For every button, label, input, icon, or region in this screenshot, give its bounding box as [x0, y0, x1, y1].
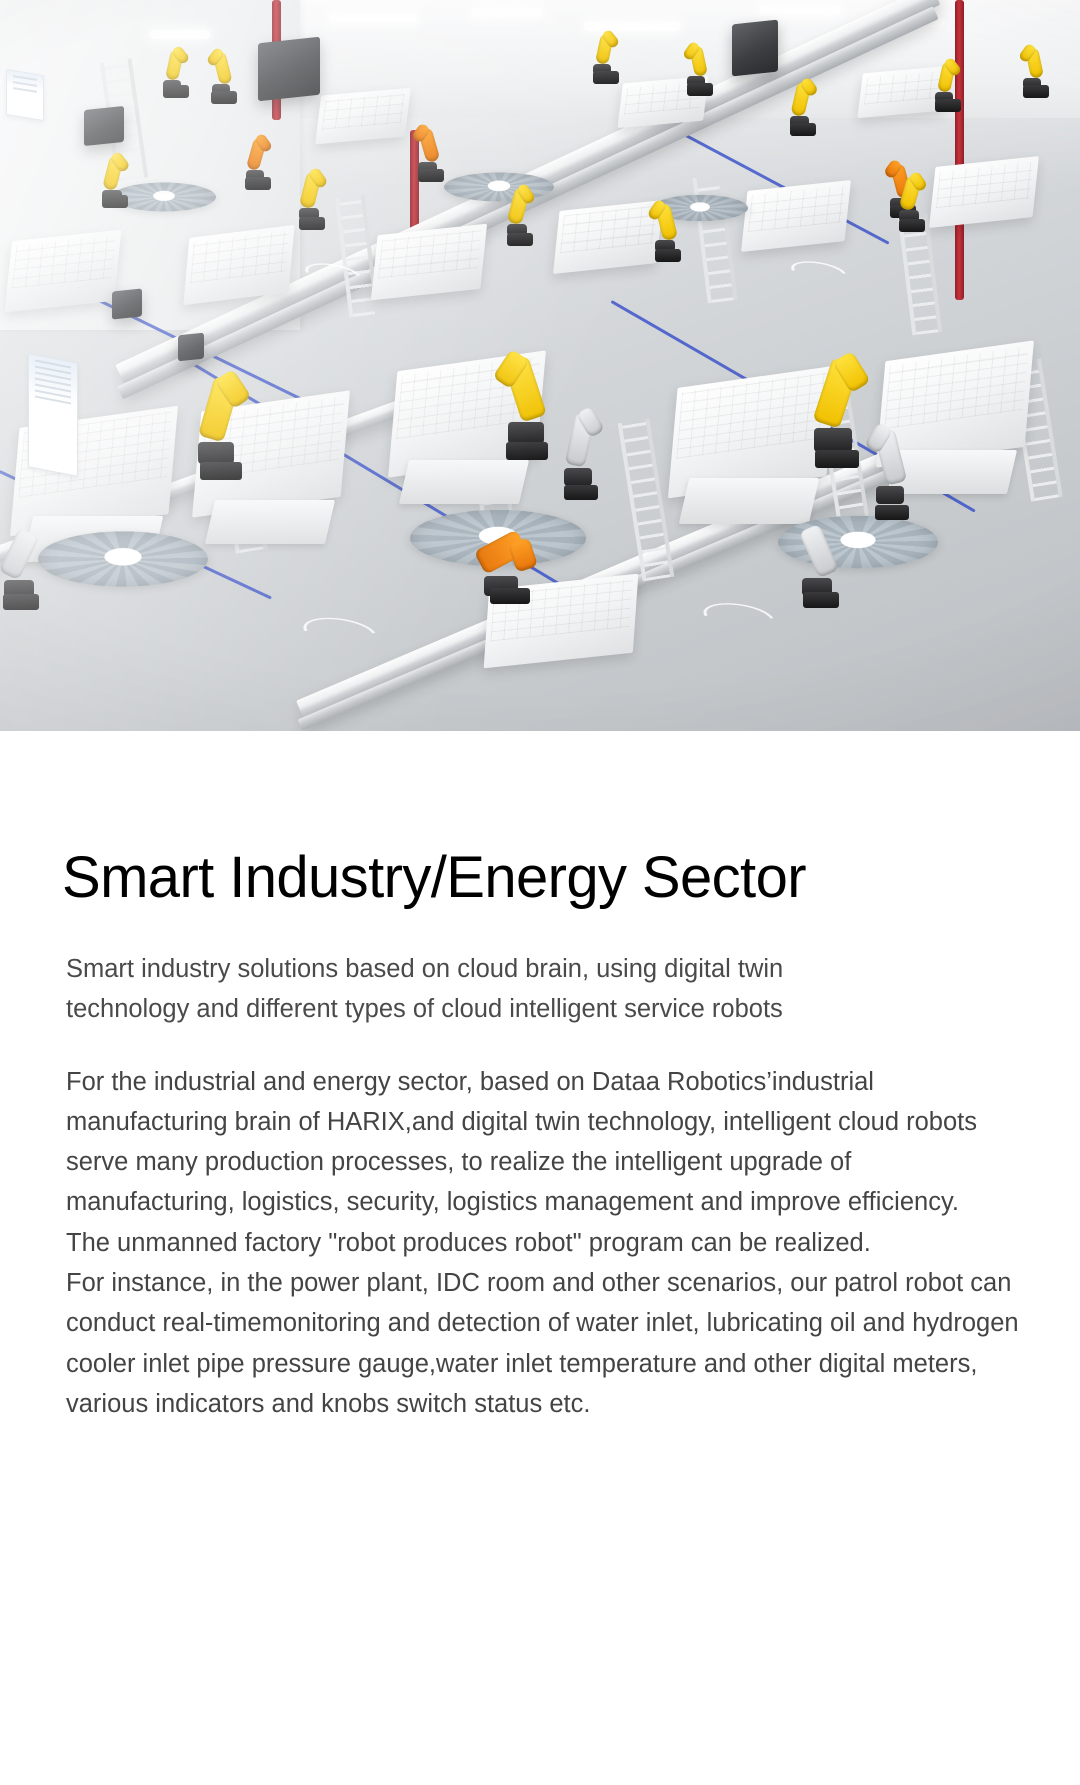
machine-cabinet: [258, 37, 320, 102]
robot-arm: [930, 58, 966, 112]
body-paragraphs: For the industrial and energy sector, ba…: [0, 1030, 1080, 1425]
article-content: Smart Industry/Energy Sector Smart indus…: [0, 731, 1080, 1424]
red-pipe: [955, 0, 964, 300]
factory-scene: [0, 0, 1080, 731]
robot-arm: [206, 48, 242, 104]
equipment-pedestal: [205, 500, 335, 544]
robot-arm: [0, 524, 52, 610]
floor-ring-marker: [782, 257, 856, 287]
summary-paragraph: Smart industry solutions based on cloud …: [0, 907, 1080, 1030]
rack-ladder: [618, 418, 675, 581]
robot-arm: [784, 78, 822, 136]
storage-rack: [371, 224, 487, 301]
ceiling-light: [150, 30, 210, 39]
storage-rack: [5, 230, 122, 313]
robot-arm: [1018, 44, 1054, 98]
hero-image: [0, 0, 1080, 731]
storage-rack: [553, 200, 663, 274]
floor-ring-marker: [291, 612, 389, 652]
machine-cabinet: [84, 106, 124, 146]
robot-arm: [648, 200, 688, 262]
page-title: Smart Industry/Energy Sector: [0, 731, 1080, 907]
robot-arm: [412, 124, 450, 182]
robot-arm: [892, 172, 932, 232]
ceiling-light: [472, 8, 542, 17]
wall-poster: [28, 353, 78, 477]
machine-cabinet: [112, 288, 142, 319]
robot-arm: [186, 370, 256, 480]
robot-arm: [790, 520, 852, 608]
robot-arm: [588, 30, 624, 84]
floor-ring-marker: [692, 597, 787, 636]
wall-poster: [6, 69, 44, 121]
machine-cabinet: [178, 333, 204, 362]
storage-rack: [183, 225, 294, 305]
robot-arm: [292, 168, 332, 230]
robot-arm: [470, 520, 550, 604]
turntable: [38, 531, 208, 586]
storage-rack: [741, 180, 851, 252]
storage-rack: [315, 88, 411, 145]
storage-rack: [929, 156, 1039, 228]
robot-arm: [552, 408, 610, 500]
robot-arm: [682, 42, 718, 96]
ceiling-light: [760, 6, 840, 15]
machine-cabinet: [732, 20, 778, 77]
robot-arm: [158, 46, 194, 98]
equipment-pedestal: [679, 478, 820, 524]
robot-arm: [500, 184, 540, 246]
robot-arm: [96, 150, 134, 208]
equipment-pedestal: [399, 460, 529, 504]
robot-arm: [862, 424, 922, 520]
robot-arm: [240, 134, 276, 190]
ceiling-light: [330, 14, 416, 23]
